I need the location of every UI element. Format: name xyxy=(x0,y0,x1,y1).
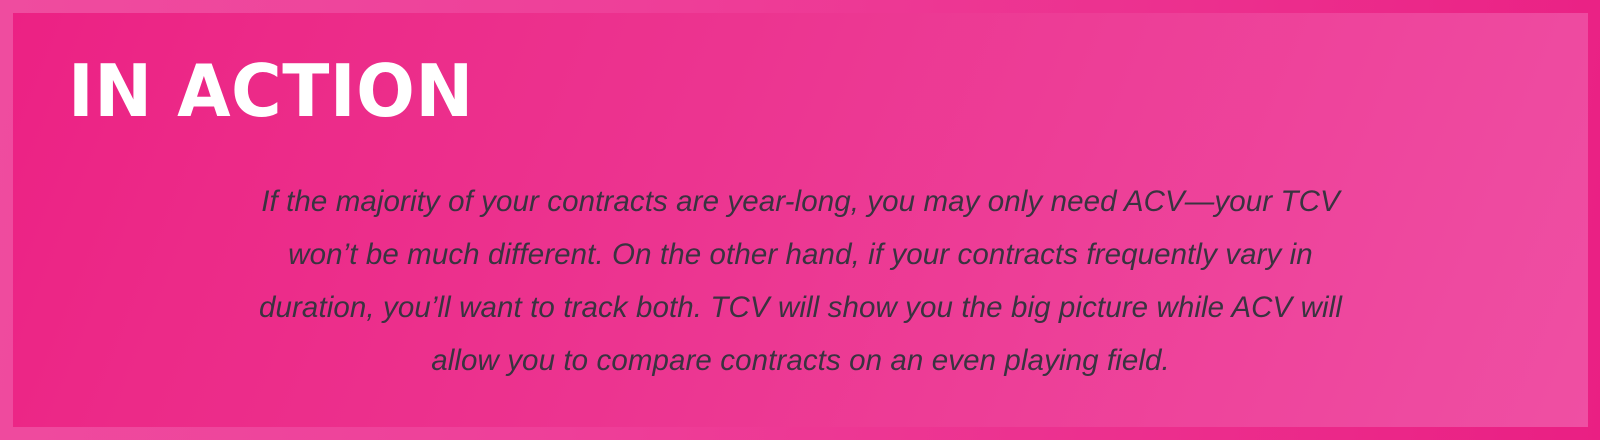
banner-inner-panel: IN ACTION If the majority of your contra… xyxy=(13,13,1588,427)
in-action-banner: IN ACTION If the majority of your contra… xyxy=(0,0,1600,440)
page-title: IN ACTION xyxy=(68,55,474,127)
body-line-1: If the majority of your contracts are ye… xyxy=(13,175,1588,228)
body-line-4: allow you to compare contracts on an eve… xyxy=(13,334,1588,387)
body-line-2: won’t be much different. On the other ha… xyxy=(13,228,1588,281)
body-line-3: duration, you’ll want to track both. TCV… xyxy=(13,281,1588,334)
banner-body-text: If the majority of your contracts are ye… xyxy=(13,175,1588,387)
